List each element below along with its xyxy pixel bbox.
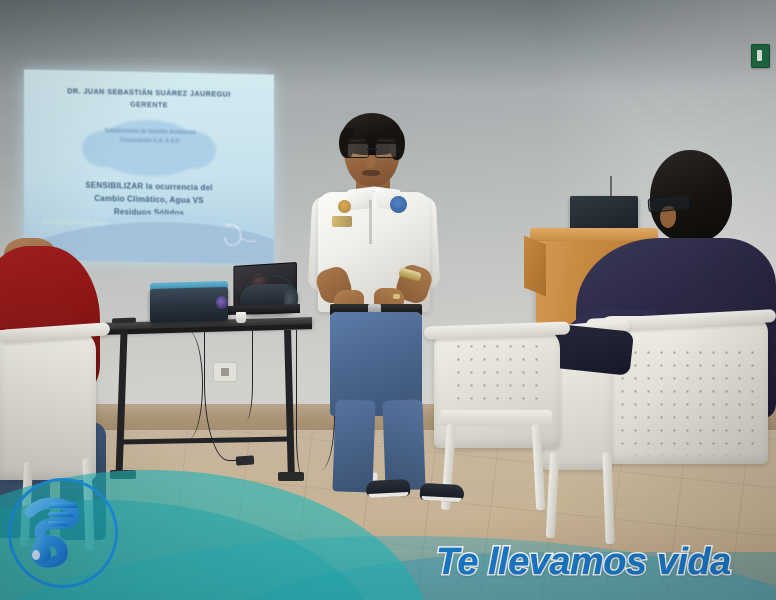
photograph-canvas: DR. JUAN SEBASTIÁN SUÁREZ JAUREGUI GEREN… (0, 0, 776, 600)
podium-side-bevel (524, 236, 546, 297)
presenter-glasses-bridge (367, 148, 377, 150)
paper-cup (236, 312, 246, 323)
presenter-ring (393, 294, 400, 299)
remote-control (112, 318, 136, 324)
podium-monitor (570, 196, 638, 232)
presenter-mouth (362, 170, 380, 176)
presenter-glasses (347, 143, 397, 157)
presenter-chest-logo (390, 196, 407, 213)
logo-ring (8, 478, 118, 588)
white-plastic-chair (0, 330, 96, 480)
emergency-exit-sign (751, 44, 770, 68)
power-cable (236, 330, 253, 420)
power-cable (172, 330, 203, 440)
slide-cloud-text: Subdirección de Gestión Ambiental Corpor… (98, 127, 202, 147)
podium-top-lip (530, 228, 658, 241)
presenter-right-shoe (420, 483, 465, 502)
projector-lens (216, 296, 228, 309)
projection-screen: DR. JUAN SEBASTIÁN SUÁREZ JAUREGUI GEREN… (24, 69, 274, 264)
water-utility-logo (8, 478, 112, 582)
chair-backrest-perforations (616, 346, 756, 456)
presenter-sleeve-badge (338, 200, 351, 213)
presenter-left-leg (332, 399, 375, 492)
presenter-nose (366, 156, 376, 168)
power-adapter (236, 455, 255, 465)
presenter-shirt-placket (369, 200, 372, 244)
chair-backrest-perforations (452, 340, 548, 400)
brand-tagline: Te llevamos vida (436, 541, 731, 584)
slide-footer-text: Barrancabermeja 2023 (42, 220, 162, 229)
presenter-left-shoe (366, 479, 411, 498)
projected-slide: DR. JUAN SEBASTIÁN SUÁREZ JAUREGUI GEREN… (24, 69, 274, 264)
presenter-sleeve-text (332, 216, 352, 227)
presenter-right-leg (382, 399, 425, 490)
slide-corner-mark-icon (220, 221, 260, 248)
